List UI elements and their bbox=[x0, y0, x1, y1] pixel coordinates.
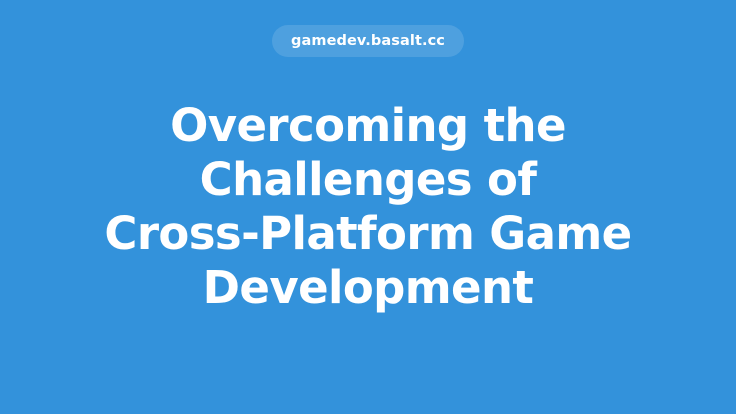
page-title: Overcoming the Challenges of Cross-Platf… bbox=[58, 99, 678, 315]
page-title-line: Overcoming the bbox=[58, 99, 678, 153]
site-domain-badge: gamedev.basalt.cc bbox=[272, 25, 464, 57]
site-domain-label: gamedev.basalt.cc bbox=[291, 34, 445, 49]
page-title-line: Challenges of bbox=[58, 153, 678, 207]
page-title-line: Cross-Platform Game bbox=[58, 207, 678, 261]
page-title-line: Development bbox=[58, 261, 678, 315]
blog-title-card: gamedev.basalt.cc Overcoming the Challen… bbox=[0, 0, 736, 414]
